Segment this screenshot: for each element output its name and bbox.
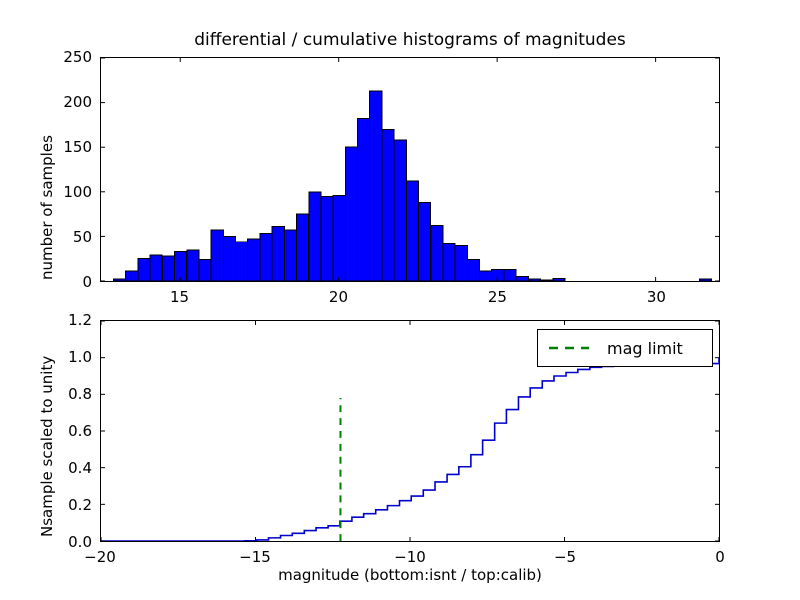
top-ytick-150: 150 [50,138,92,156]
top-ytick-50: 50 [50,228,92,246]
bottom-xtick-2: −10 [394,548,426,566]
histogram-bar [199,260,211,281]
histogram-bar [126,271,138,281]
histogram-bar [296,214,308,281]
bottom-xtick-4: 0 [715,548,725,566]
histogram-bar [553,278,565,281]
histogram-bar [358,119,370,281]
histogram-bar [114,279,126,281]
cumulative-curve [101,358,719,541]
top-axis-ylabel: number of samples [38,135,56,280]
bottom-ytick-1.2: 1.2 [50,311,92,329]
bottom-ytick-0.8: 0.8 [50,385,92,403]
histogram-bar [309,192,321,281]
bottom-axis-xlabel: magnitude (bottom:isnt / top:calib) [100,566,720,584]
bottom-ytick-0.2: 0.2 [50,496,92,514]
histogram-bar [516,277,528,281]
bottom-ytick-0.6: 0.6 [50,422,92,440]
histogram-bar [187,250,199,281]
histogram-bar [480,271,492,281]
top-ytick-100: 100 [50,183,92,201]
histogram-bar [162,256,174,281]
histogram-bar [370,91,382,281]
histogram-plot-area [101,58,719,281]
top-ytick-0: 0 [50,273,92,291]
histogram-bar [467,260,479,281]
top-ytick-200: 200 [50,93,92,111]
legend-label-mag-limit: mag limit [607,339,683,358]
histogram-bar [138,259,150,281]
histogram-bar [236,242,248,281]
histogram-bar [504,269,516,281]
histogram-bar [260,234,272,281]
figure-canvas: differential / cumulative histograms of … [0,0,800,600]
histogram-bar [382,129,394,281]
histogram-bar [150,255,162,281]
histogram-bar [492,269,504,281]
histogram-bar [345,147,357,281]
top-xtick-20: 20 [329,288,348,306]
histogram-bar [540,280,552,281]
histogram-bar [528,279,540,281]
histogram-bar [211,230,223,281]
histogram-bar [431,226,443,281]
histogram-bar [248,239,260,281]
top-xtick-25: 25 [488,288,507,306]
legend: mag limit [537,329,713,367]
histogram-bar [321,196,333,281]
top-ytick-250: 250 [50,48,92,66]
histogram-bar [284,230,296,281]
histogram-bar [418,203,430,281]
bottom-xtick-1: −15 [239,548,271,566]
bottom-xtick-3: −5 [554,548,576,566]
histogram-bar [223,236,235,281]
histogram-bar [699,279,711,281]
bottom-ytick-1.0: 1.0 [50,348,92,366]
bottom-xtick-0: −20 [84,548,116,566]
top-xtick-30: 30 [647,288,666,306]
figure-title: differential / cumulative histograms of … [100,30,720,50]
histogram-bar [406,181,418,281]
top-xtick-15: 15 [170,288,189,306]
histogram-bar [333,195,345,281]
histogram-axes [100,57,720,282]
histogram-bar [394,140,406,281]
histogram-bar [174,252,186,281]
histogram-bar [272,227,284,281]
bottom-ytick-0.4: 0.4 [50,459,92,477]
histogram-bar [455,245,467,281]
histogram-bar [443,244,455,281]
mag-limit-line-icon [547,341,591,355]
